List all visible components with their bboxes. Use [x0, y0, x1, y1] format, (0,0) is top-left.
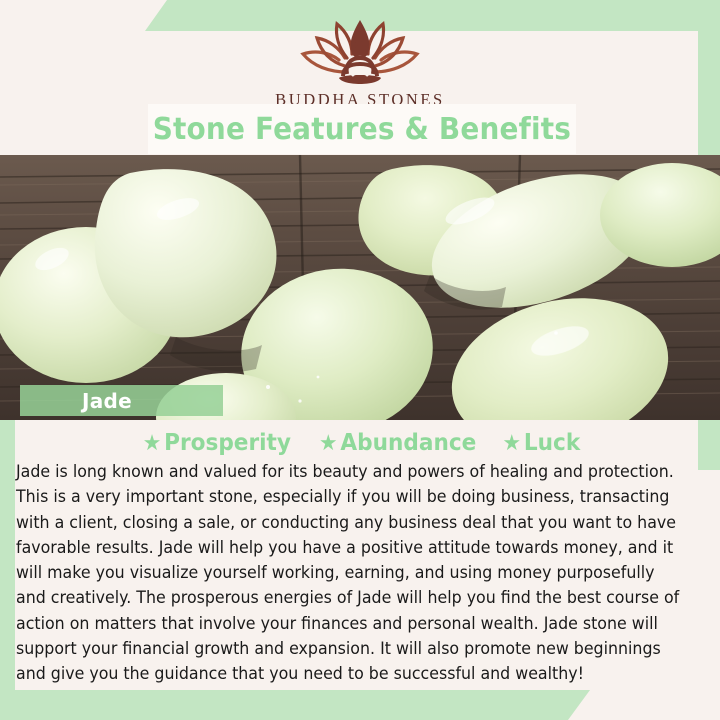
lotus-meditation-icon: [0, 16, 720, 88]
page-title: Stone Features & Benefits: [153, 112, 571, 147]
benefits-list: ★Prosperity ★Abundance ★Luck: [0, 430, 720, 456]
benefit-item-2: ★Luck: [502, 430, 580, 456]
decorative-band-bottom: [0, 690, 590, 720]
benefit-item-1: ★Abundance: [319, 430, 476, 456]
stone-name-bar: Jade: [20, 385, 223, 416]
stone-description: Jade is long known and valued for its be…: [16, 459, 682, 687]
benefit-item-0: ★Prosperity: [142, 430, 290, 456]
stone-info-card: BUDDHA STONES Stone Features & Benefits: [0, 0, 720, 720]
star-icon: ★: [319, 431, 338, 456]
benefit-label-2: Luck: [523, 430, 579, 456]
brand-logo: BUDDHA STONES: [0, 16, 720, 110]
jade-stones-photo: [0, 155, 720, 420]
star-icon: ★: [502, 431, 521, 456]
benefit-label-0: Prosperity: [164, 430, 291, 456]
star-icon: ★: [142, 431, 161, 456]
stone-name-label: Jade: [82, 389, 132, 413]
title-banner: Stone Features & Benefits: [148, 104, 576, 154]
benefit-label-1: Abundance: [340, 430, 476, 456]
